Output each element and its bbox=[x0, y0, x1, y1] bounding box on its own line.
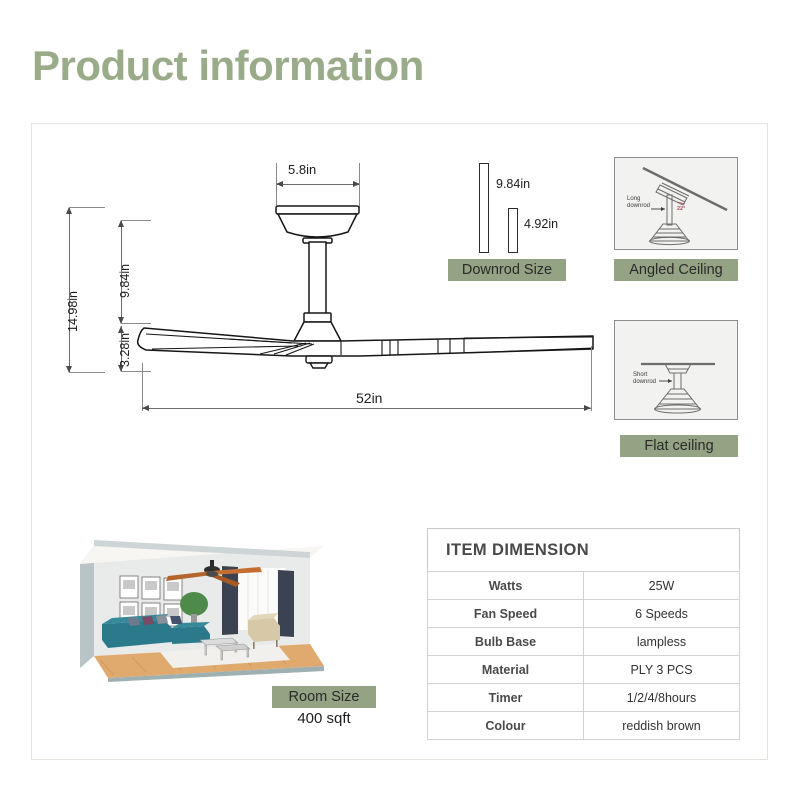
spec-value-colour: reddish brown bbox=[584, 712, 740, 740]
table-row: Fan Speed 6 Speeds bbox=[428, 600, 740, 628]
table-row: Material PLY 3 PCS bbox=[428, 656, 740, 684]
total-height-arrow-top bbox=[66, 207, 72, 214]
span-arrow-right bbox=[584, 405, 591, 411]
blade-height-ext-bottom bbox=[121, 371, 151, 372]
spec-value-material: PLY 3 PCS bbox=[584, 656, 740, 684]
room-size-caption: Room Size bbox=[272, 686, 376, 708]
room-size-value: 400 sqft bbox=[272, 710, 376, 727]
downrod-height-ext-top bbox=[121, 220, 151, 221]
downrod-size-caption: Downrod Size bbox=[448, 259, 566, 281]
spec-table-header-row: ITEM DIMENSION bbox=[428, 529, 740, 572]
spec-key-timer: Timer bbox=[428, 684, 584, 712]
angled-downrod-label-line2: downrod bbox=[627, 203, 650, 209]
downrod-long-label: 9.84in bbox=[496, 177, 530, 191]
span-dim-label: 52in bbox=[356, 390, 382, 406]
spec-key-material: Material bbox=[428, 656, 584, 684]
angled-downrod-label: Long downrod bbox=[627, 196, 650, 210]
table-row: Watts 25W bbox=[428, 572, 740, 600]
spec-value-timer: 1/2/4/8hours bbox=[584, 684, 740, 712]
flat-downrod-label-line2: downrod bbox=[633, 379, 656, 385]
page-title: Product information bbox=[32, 42, 424, 90]
spec-table-title: ITEM DIMENSION bbox=[428, 529, 740, 572]
downrod-short-bar bbox=[508, 208, 518, 253]
flat-downrod-label-line1: Short bbox=[633, 372, 647, 378]
spec-value-watts: 25W bbox=[584, 572, 740, 600]
table-row: Timer 1/2/4/8hours bbox=[428, 684, 740, 712]
spec-key-watts: Watts bbox=[428, 572, 584, 600]
angled-ceiling-caption: Angled Ceiling bbox=[614, 259, 738, 281]
room-size-illustration bbox=[72, 524, 332, 682]
spec-key-fan-speed: Fan Speed bbox=[428, 600, 584, 628]
spec-value-fan-speed: 6 Speeds bbox=[584, 600, 740, 628]
flat-ceiling-card: Short downrod bbox=[614, 320, 738, 420]
angled-ceiling-angle-label: 22° bbox=[677, 206, 685, 212]
span-ext-line-left bbox=[142, 363, 143, 411]
blade-height-arrow-top bbox=[118, 326, 124, 333]
table-row: Bulb Base lampless bbox=[428, 628, 740, 656]
flat-downrod-label: Short downrod bbox=[633, 372, 656, 386]
item-dimension-table: ITEM DIMENSION Watts 25W Fan Speed 6 Spe… bbox=[427, 528, 740, 740]
span-dim-line bbox=[142, 408, 591, 409]
downrod-height-arrow-top bbox=[118, 220, 124, 227]
blade-height-label: 3.28in bbox=[118, 333, 132, 367]
spec-table-body: ITEM DIMENSION Watts 25W Fan Speed 6 Spe… bbox=[428, 529, 740, 740]
angled-downrod-label-line1: Long bbox=[627, 196, 640, 202]
spec-key-colour: Colour bbox=[428, 712, 584, 740]
flat-ceiling-illustration bbox=[615, 321, 739, 421]
total-height-ext-bottom bbox=[69, 372, 105, 373]
downrod-short-label: 4.92in bbox=[524, 217, 558, 231]
spec-value-bulb-base: lampless bbox=[584, 628, 740, 656]
downrod-height-ext-bottom bbox=[121, 323, 151, 324]
downrod-height-label: 9.84in bbox=[118, 264, 132, 298]
total-height-ext-top bbox=[69, 207, 105, 208]
total-height-label: 14.98in bbox=[66, 291, 80, 332]
span-ext-line-right bbox=[591, 346, 592, 411]
spec-key-bulb-base: Bulb Base bbox=[428, 628, 584, 656]
angled-ceiling-card: Long downrod 22° bbox=[614, 157, 738, 250]
downrod-long-bar bbox=[479, 163, 489, 253]
table-row: Colour reddish brown bbox=[428, 712, 740, 740]
flat-ceiling-caption: Flat ceiling bbox=[620, 435, 738, 457]
span-arrow-left bbox=[142, 405, 149, 411]
